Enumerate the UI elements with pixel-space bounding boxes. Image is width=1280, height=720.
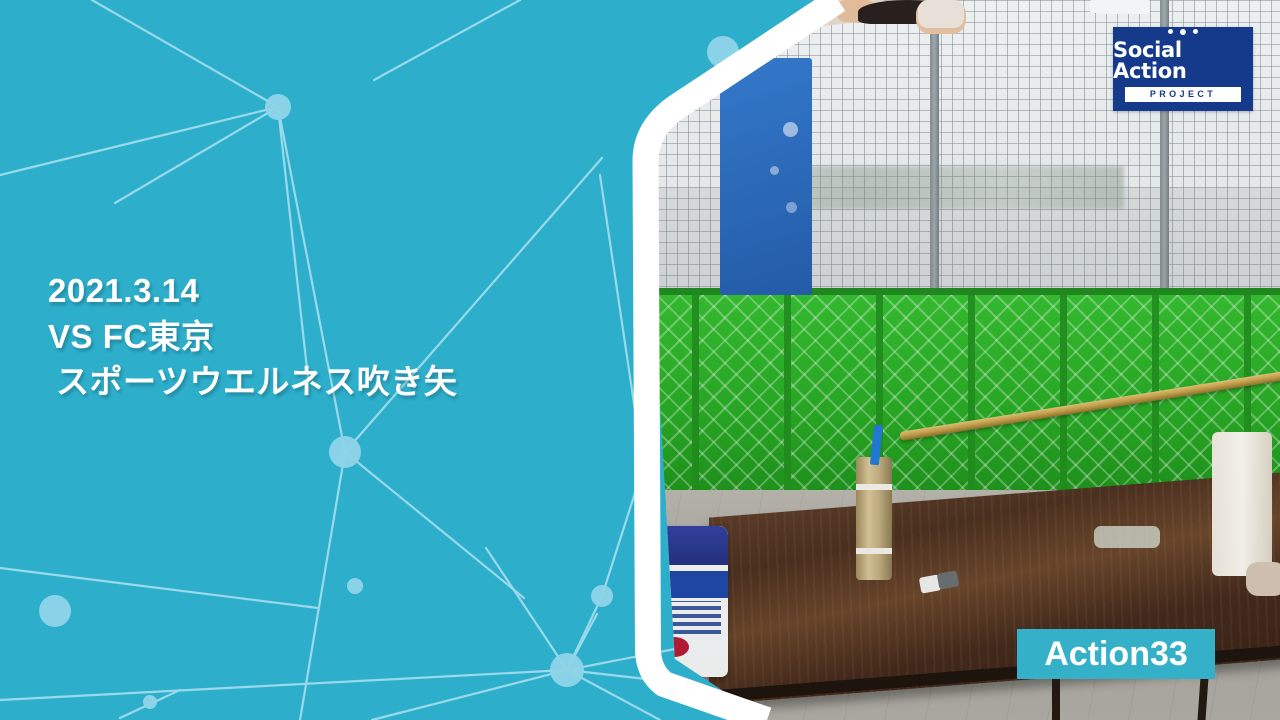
- jersey-badge-kyowa: [726, 0, 748, 26]
- slide-canvas: 2021.3.14 VS FC東京 スポーツウエルネス吹き矢 Social Ac…: [0, 0, 1280, 720]
- logo-project-bar: PROJECT: [1125, 87, 1241, 102]
- caption-match: VS FC東京: [48, 314, 588, 360]
- staff-male-hand: [758, 0, 800, 24]
- action-badge-label: Action33: [1044, 635, 1188, 674]
- logo-brand-text: Social Action: [1113, 37, 1253, 82]
- child-gray-arm: [719, 0, 802, 31]
- logo-project-label: PROJECT: [1150, 89, 1216, 99]
- jersey-puma-logo: [662, 0, 696, 14]
- slide-caption: 2021.3.14 VS FC東京 スポーツウエルネス吹き矢: [48, 268, 588, 405]
- logo-brand-label: Social Action: [1113, 38, 1187, 83]
- caption-activity: スポーツウエルネス吹き矢: [48, 359, 588, 405]
- staff-male-wristband: [756, 0, 796, 9]
- caption-date: 2021.3.14: [48, 268, 588, 314]
- jersey-sponsor-showa-denko: [656, 0, 708, 21]
- action-number-badge: Action33: [1017, 629, 1215, 679]
- staff-male-id-card: [720, 0, 746, 34]
- jersey-number-5: [676, 0, 706, 42]
- social-action-project-logo: Social Action PROJECT: [1113, 27, 1253, 111]
- logo-dots-decoration: [1168, 29, 1198, 35]
- jersey-text-daihatsu: [652, 0, 760, 22]
